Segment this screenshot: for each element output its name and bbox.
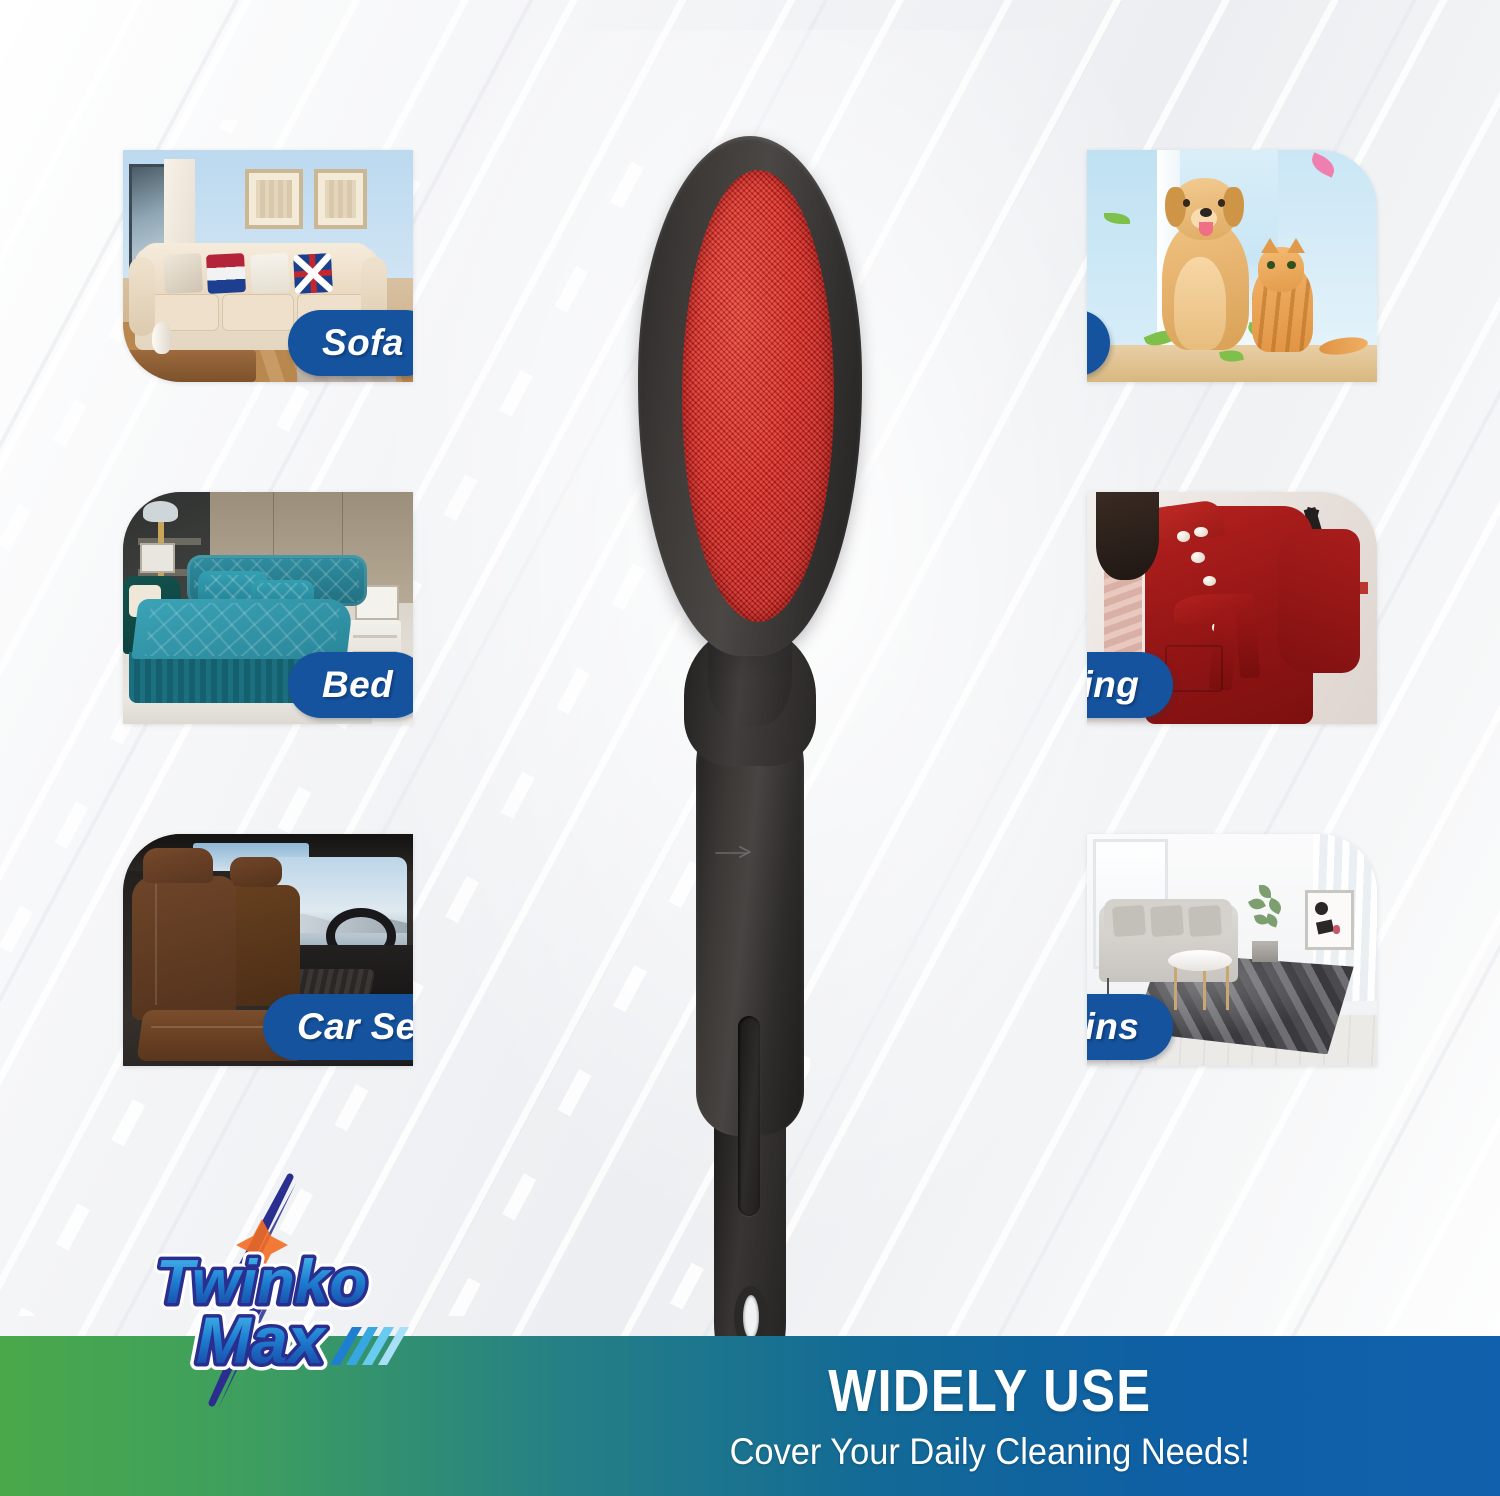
logo-text-max: Max Max Max [196, 1303, 327, 1377]
pill-label-bed: Bed [322, 664, 393, 706]
banner-text-block: WIDELY USE Cover Your Daily Cleaning Nee… [520, 1336, 1460, 1496]
direction-arrow-icon [714, 842, 758, 858]
logo-speed-chevrons [330, 1327, 409, 1365]
pill-label-clothing: Clothing [1087, 664, 1139, 706]
banner-title: WIDELY USE [828, 1362, 1151, 1421]
brush-red-fabric-pad [682, 170, 834, 622]
pill-label-curtains: Curtains [1087, 1006, 1139, 1048]
pill-bed[interactable]: Bed [288, 652, 413, 718]
pill-curtains[interactable]: Curtains [1087, 994, 1173, 1060]
brush-thumb-groove [738, 1016, 760, 1216]
banner-subtitle: Cover Your Daily Cleaning Needs! [730, 1433, 1250, 1470]
panel-sofa[interactable]: Sofa [123, 150, 413, 382]
panel-curtains[interactable]: Curtains [1087, 834, 1377, 1066]
pill-car-seat[interactable]: Car Seat [263, 994, 413, 1060]
pill-label-sofa: Sofa [322, 322, 404, 364]
brand-logo: Twinko Twinko Twinko Max Max Max [140, 1185, 420, 1400]
panel-car-seat[interactable]: Car Seat [123, 834, 413, 1066]
panel-pets[interactable]: Pets [1087, 150, 1377, 382]
brush-head-frame [638, 136, 862, 656]
pill-clothing[interactable]: Clothing [1087, 652, 1173, 718]
svg-text:Max: Max [196, 1303, 327, 1377]
panel-clothing[interactable]: Clothing [1087, 492, 1377, 724]
panel-bed[interactable]: Bed [123, 492, 413, 724]
pill-label-car-seat: Car Seat [297, 1006, 413, 1048]
pets-scene-image [1087, 150, 1377, 382]
lint-brush-product [630, 136, 870, 1256]
pill-sofa[interactable]: Sofa [288, 310, 413, 376]
